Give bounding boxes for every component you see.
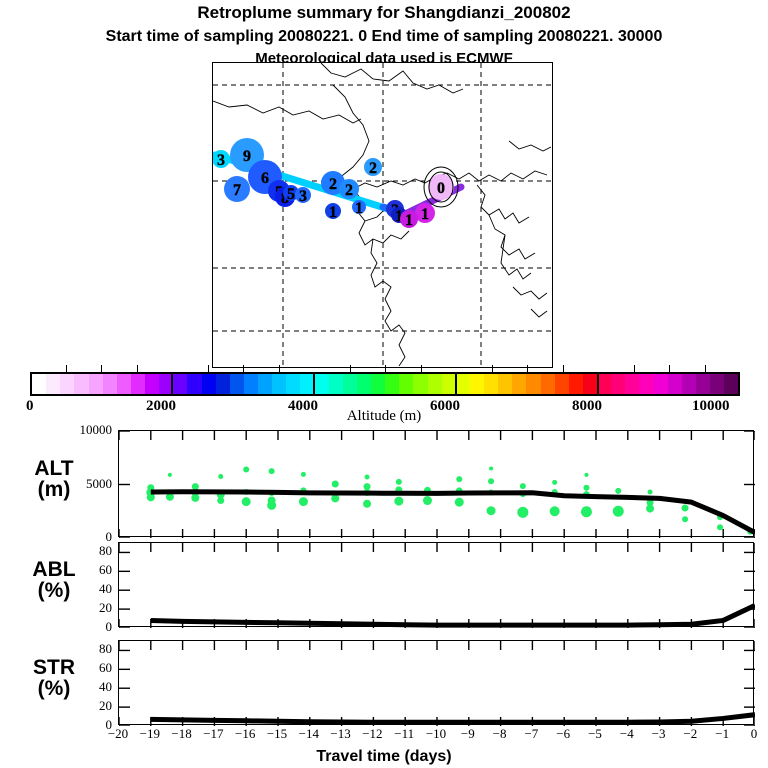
x-tick-label: −13 xyxy=(326,726,356,742)
colorbar-swatch-15 xyxy=(244,374,258,394)
abl-panel-row: ABL (%) xyxy=(0,542,768,627)
colorbar-swatch-22 xyxy=(343,374,357,394)
colorbar-minor-tick xyxy=(279,365,280,372)
abl-chart-svg xyxy=(119,543,755,628)
colorbar-swatch-33 xyxy=(498,374,512,394)
str-plot-area xyxy=(118,640,754,725)
colorbar-swatch-24 xyxy=(371,374,385,394)
colorbar-swatch-5 xyxy=(103,374,117,394)
colorbar-swatch-8 xyxy=(145,374,159,394)
svg-text:3: 3 xyxy=(299,188,307,205)
colorbar-swatch-39 xyxy=(583,374,597,394)
colorbar-axis-title: Altitude (m) xyxy=(0,408,768,425)
colorbar-swatch-40 xyxy=(597,374,611,394)
colorbar-minor-tick xyxy=(492,365,493,372)
colorbar-divider xyxy=(313,372,315,396)
colorbar-minor-tick xyxy=(705,365,706,372)
colorbar-swatch-18 xyxy=(286,374,300,394)
colorbar-swatch-34 xyxy=(512,374,526,394)
colorbar-swatches xyxy=(30,372,740,396)
x-tick-label: −3 xyxy=(644,726,674,742)
y-tick-label: 20 xyxy=(54,698,112,714)
colorbar-minor-tick xyxy=(669,365,670,372)
y-tick-label: 10000 xyxy=(54,422,112,438)
x-tick-label: −9 xyxy=(453,726,483,742)
svg-text:5: 5 xyxy=(287,186,295,203)
x-tick-label: −19 xyxy=(135,726,165,742)
x-tick-label: −8 xyxy=(485,726,515,742)
x-tick-label: −12 xyxy=(357,726,387,742)
colorbar-swatch-41 xyxy=(611,374,625,394)
x-tick-label: −7 xyxy=(516,726,546,742)
svg-text:7: 7 xyxy=(233,182,241,199)
colorbar-swatch-29 xyxy=(442,374,456,394)
page-title: Retroplume summary for Shangdianzi_20080… xyxy=(0,3,768,23)
x-axis-tick-labels: −20−19−18−17−16−15−14−13−12−11−10−9−8−7−… xyxy=(0,726,768,746)
y-tick-label: 80 xyxy=(54,641,112,657)
colorbar-minor-tick xyxy=(563,365,564,372)
x-tick-label: −14 xyxy=(294,726,324,742)
str-chart-svg xyxy=(119,641,755,726)
colorbar-swatch-14 xyxy=(230,374,244,394)
colorbar-swatch-23 xyxy=(357,374,371,394)
y-tick-label: 60 xyxy=(54,660,112,676)
alt-chart-svg xyxy=(119,431,755,538)
colorbar-swatch-16 xyxy=(258,374,272,394)
colorbar-swatch-21 xyxy=(329,374,343,394)
colorbar-swatch-1 xyxy=(46,374,60,394)
x-tick-label: −17 xyxy=(198,726,228,742)
colorbar-swatch-49 xyxy=(724,374,738,394)
colorbar-swatch-12 xyxy=(202,374,216,394)
svg-text:2: 2 xyxy=(369,160,377,177)
svg-text:1: 1 xyxy=(421,206,429,223)
x-tick-label: −1 xyxy=(707,726,737,742)
y-tick-label: 40 xyxy=(54,581,112,597)
x-tick-label: −6 xyxy=(548,726,578,742)
svg-text:0: 0 xyxy=(437,180,445,197)
x-tick-label: −10 xyxy=(421,726,451,742)
colorbar-swatch-48 xyxy=(710,374,724,394)
svg-text:1: 1 xyxy=(329,204,337,221)
y-tick-label: 20 xyxy=(54,600,112,616)
colorbar-divider xyxy=(597,372,599,396)
colorbar-swatch-11 xyxy=(187,374,201,394)
colorbar-minor-tick xyxy=(634,365,635,372)
colorbar-minor-tick xyxy=(350,365,351,372)
colorbar-swatch-31 xyxy=(470,374,484,394)
altitude-colorbar: 0200040006000800010000 xyxy=(30,372,740,396)
colorbar-swatch-38 xyxy=(569,374,583,394)
alt-plot-area xyxy=(118,430,754,537)
x-tick-label: −5 xyxy=(580,726,610,742)
colorbar-swatch-42 xyxy=(625,374,639,394)
colorbar-swatch-26 xyxy=(399,374,413,394)
svg-text:1: 1 xyxy=(355,200,363,217)
alt-panel-row: ALT (m) xyxy=(0,430,768,537)
x-tick-label: −4 xyxy=(612,726,642,742)
x-axis-title: Travel time (days) xyxy=(0,748,768,766)
x-tick-label: −18 xyxy=(167,726,197,742)
svg-text:9: 9 xyxy=(243,148,251,165)
colorbar-minor-tick xyxy=(208,365,209,372)
colorbar-swatch-27 xyxy=(413,374,427,394)
colorbar-swatch-44 xyxy=(654,374,668,394)
svg-text:3: 3 xyxy=(217,152,225,169)
svg-text:2: 2 xyxy=(329,176,337,193)
x-tick-label: −2 xyxy=(675,726,705,742)
colorbar-minor-tick xyxy=(137,365,138,372)
colorbar-swatch-43 xyxy=(639,374,653,394)
colorbar-minor-tick xyxy=(66,365,67,372)
colorbar-swatch-10 xyxy=(173,374,187,394)
svg-text:2: 2 xyxy=(345,182,353,199)
sampling-time-subtitle: Start time of sampling 20080221. 0 End t… xyxy=(0,28,768,46)
y-tick-label: 60 xyxy=(54,562,112,578)
colorbar-swatch-36 xyxy=(541,374,555,394)
colorbar-swatch-25 xyxy=(385,374,399,394)
colorbar-swatch-6 xyxy=(117,374,131,394)
colorbar-swatch-45 xyxy=(668,374,682,394)
colorbar-swatch-20 xyxy=(315,374,329,394)
colorbar-divider xyxy=(455,372,457,396)
x-tick-label: −15 xyxy=(262,726,292,742)
colorbar-swatch-28 xyxy=(428,374,442,394)
colorbar-swatch-13 xyxy=(216,374,230,394)
x-tick-label: 0 xyxy=(739,726,768,742)
colorbar-swatch-17 xyxy=(272,374,286,394)
y-tick-label: 0 xyxy=(54,717,112,733)
colorbar-swatch-7 xyxy=(131,374,145,394)
colorbar-minor-tick xyxy=(385,365,386,372)
colorbar-swatch-30 xyxy=(456,374,470,394)
colorbar-swatch-0 xyxy=(32,374,46,394)
x-tick-label: −16 xyxy=(230,726,260,742)
abl-plot-area xyxy=(118,542,754,627)
colorbar-minor-tick xyxy=(421,365,422,372)
retroplume-map: 397658532211221110 xyxy=(212,62,553,368)
y-tick-label: 40 xyxy=(54,679,112,695)
colorbar-swatch-37 xyxy=(555,374,569,394)
y-tick-label: 80 xyxy=(54,543,112,559)
colorbar-swatch-35 xyxy=(526,374,540,394)
y-tick-label: 5000 xyxy=(54,476,112,492)
x-tick-label: −11 xyxy=(389,726,419,742)
colorbar-swatch-46 xyxy=(682,374,696,394)
colorbar-minor-tick xyxy=(527,365,528,372)
y-tick-label: 0 xyxy=(54,619,112,635)
svg-text:1: 1 xyxy=(405,212,413,229)
colorbar-swatch-2 xyxy=(60,374,74,394)
colorbar-swatch-32 xyxy=(484,374,498,394)
svg-text:6: 6 xyxy=(261,170,269,187)
colorbar-divider xyxy=(171,372,173,396)
colorbar-swatch-3 xyxy=(74,374,88,394)
map-graphic: 397658532211221110 xyxy=(213,63,551,366)
colorbar-swatch-4 xyxy=(89,374,103,394)
colorbar-minor-tick xyxy=(101,365,102,372)
colorbar-swatch-47 xyxy=(696,374,710,394)
str-panel-row: STR (%) xyxy=(0,640,768,725)
colorbar-minor-tick xyxy=(243,365,244,372)
